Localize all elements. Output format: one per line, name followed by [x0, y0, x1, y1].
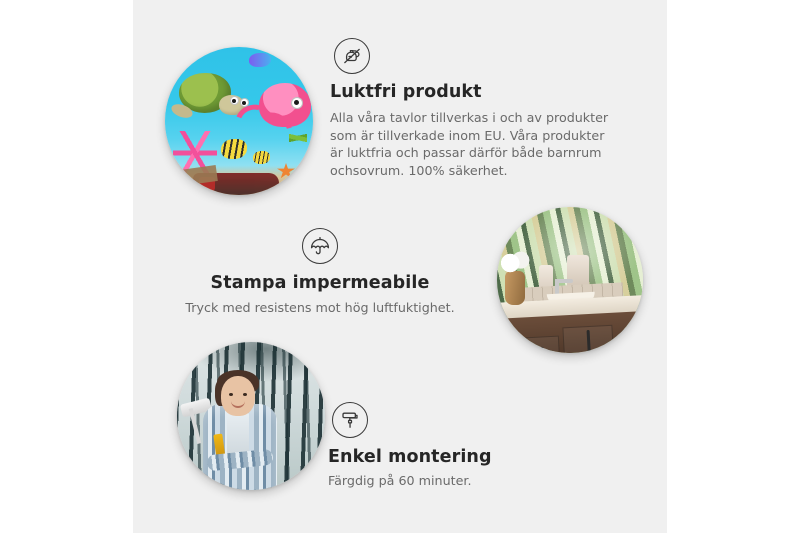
feature-odorless: Luktfri produkt Alla våra tavlor tillver…: [330, 38, 630, 179]
small-fish-shape: [253, 151, 270, 164]
seaweed-shape: [289, 121, 307, 155]
feature-title: Stampa impermeabile: [170, 273, 470, 293]
feature-body: Tryck med resistens mot hög luftfuktighe…: [170, 299, 470, 316]
bathroom-scene: [497, 207, 643, 353]
painter-scene: [177, 342, 325, 490]
yellow-fish-shape: [221, 139, 247, 159]
woman-eye-left: [229, 393, 233, 396]
no-fragrance-spray-icon: [334, 38, 370, 74]
octopus-eye: [291, 97, 303, 109]
product-photo-painter: [177, 342, 325, 490]
starfish-shape: [277, 163, 295, 179]
umbrella-icon: [302, 228, 338, 264]
feature-title: Enkel montering: [328, 447, 588, 467]
paint-roller-icon: [332, 402, 368, 438]
vanity-cabinet-shape: [497, 311, 643, 353]
feature-waterproof: Stampa impermeabile Tryck med resistens …: [170, 228, 470, 316]
feature-body: Färgdig på 60 minuter.: [328, 472, 588, 489]
flowers-shape: [499, 251, 531, 275]
vase-shape: [505, 271, 525, 305]
blue-fish-shape: [249, 53, 271, 67]
woman-head: [221, 376, 255, 416]
feature-install: Enkel montering Färgdig på 60 minuter.: [328, 402, 588, 489]
product-photo-bathroom: [497, 207, 643, 353]
promo-graphic: Luktfri produkt Alla våra tavlor tillver…: [0, 0, 800, 533]
woman-eye-right: [243, 393, 247, 396]
feature-body: Alla våra tavlor tillverkas i och av pro…: [330, 109, 620, 179]
faucet-shape: [555, 279, 559, 295]
turtle-shape: [179, 73, 231, 113]
product-photo-ocean: [165, 47, 313, 195]
turtle-eye-left: [230, 96, 239, 105]
ocean-scene: [165, 47, 313, 195]
feature-title: Luktfri produkt: [330, 82, 630, 102]
